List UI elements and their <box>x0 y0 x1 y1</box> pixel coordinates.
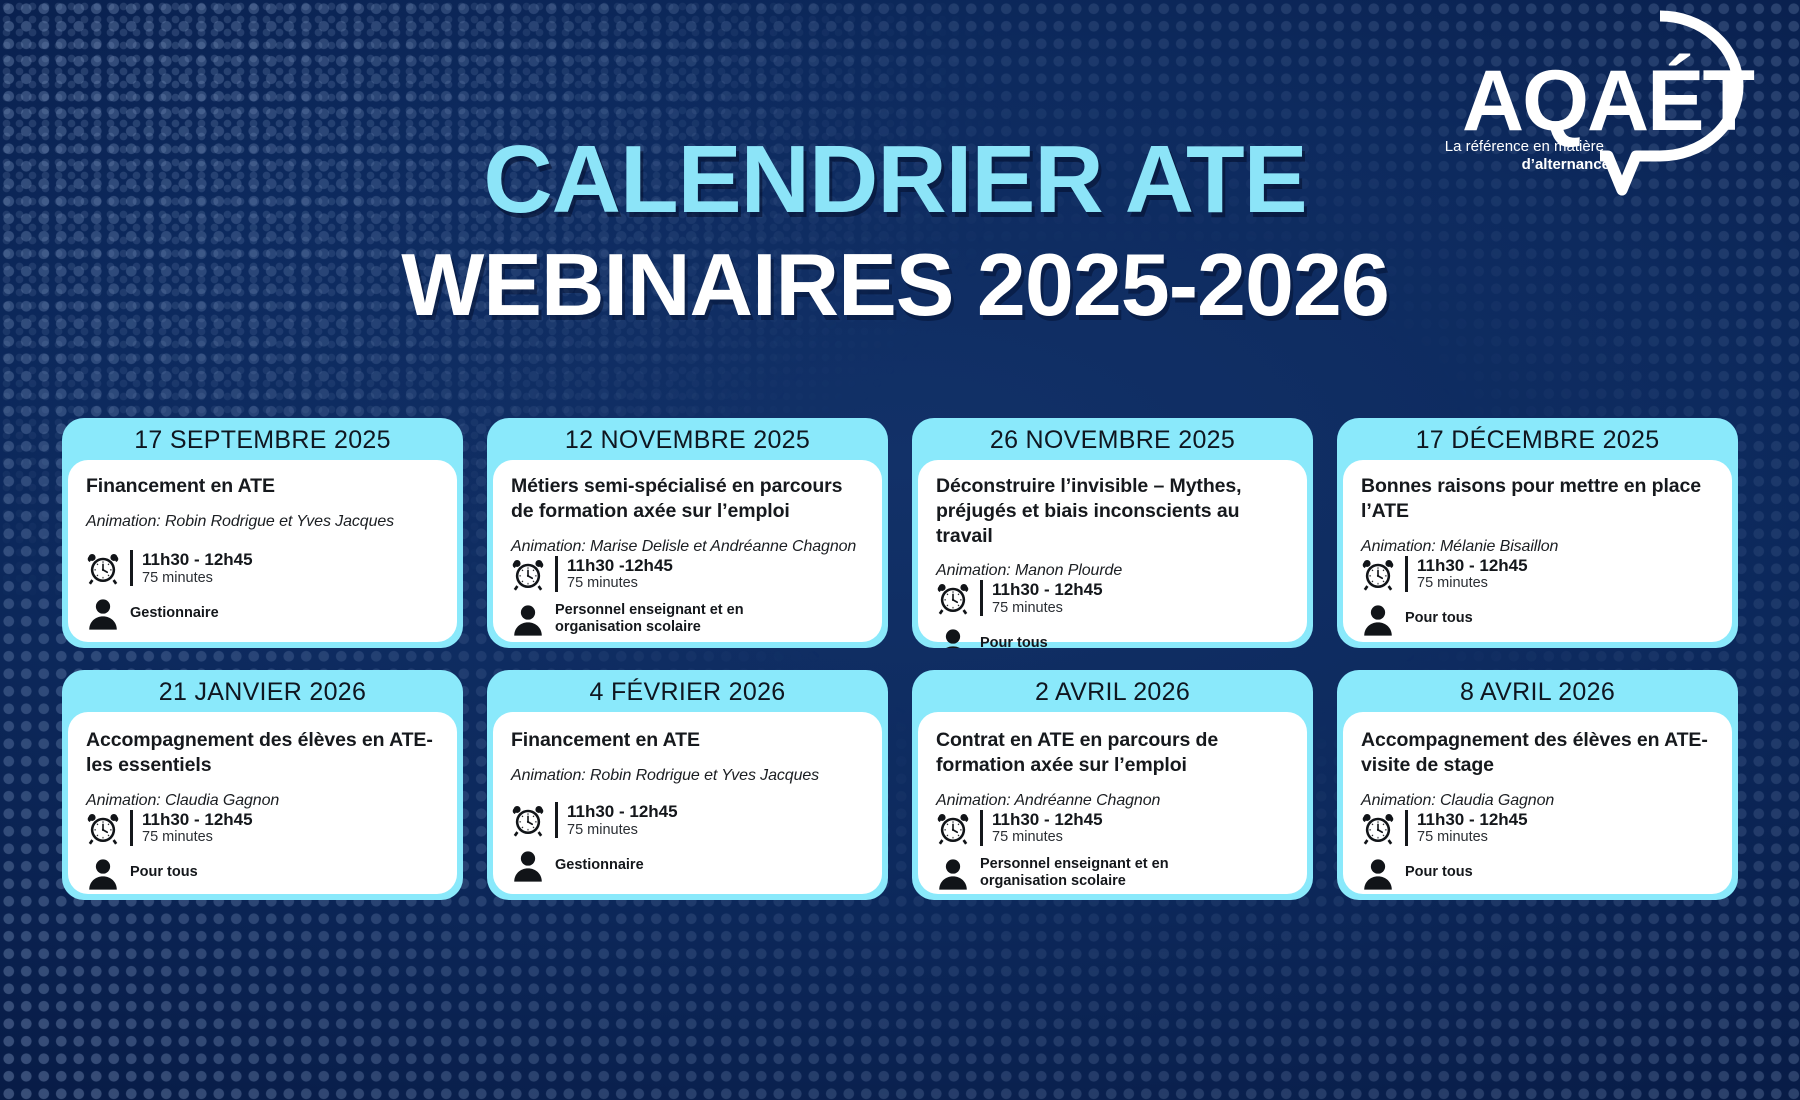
card-audience-row: Pour tous <box>936 626 1289 648</box>
card-body: Financement en ATE Animation: Robin Rodr… <box>493 712 882 894</box>
card-audience-row: Personnel enseignant et en organisation … <box>936 856 1289 890</box>
person-icon <box>936 626 970 648</box>
card-time-row: 11h30 - 12h45 75 minutes <box>1361 556 1714 592</box>
card-title: Accompagnement des élèves en ATE- visite… <box>1361 728 1714 778</box>
person-icon <box>511 848 545 882</box>
card-duration: 75 minutes <box>142 829 253 845</box>
card-animator: Animation: Claudia Gagnon <box>86 792 439 810</box>
card-date: 4 FÉVRIER 2026 <box>487 670 888 714</box>
card-date: 26 NOVEMBRE 2025 <box>912 418 1313 462</box>
page-subtitle: WEBINAIRES 2025-2026 <box>0 236 1790 335</box>
webinar-card-1[interactable]: 17 SEPTEMBRE 2025 Financement en ATE Ani… <box>62 418 463 648</box>
card-time-range: 11h30 - 12h45 <box>567 802 678 821</box>
card-time-text: 11h30 - 12h45 75 minutes <box>1405 556 1528 592</box>
alarm-clock-icon <box>1361 557 1395 591</box>
card-title: Déconstruire l’invisible – Mythes, préju… <box>936 474 1289 548</box>
poster-headings: CALENDRIER ATE WEBINAIRES 2025-2026 <box>0 130 1800 334</box>
card-body: Financement en ATE Animation: Robin Rodr… <box>68 460 457 642</box>
card-date: 2 AVRIL 2026 <box>912 670 1313 714</box>
card-time-text: 11h30 - 12h45 75 minutes <box>555 802 678 838</box>
webinar-card-4[interactable]: 17 DÉCEMBRE 2025 Bonnes raisons pour met… <box>1337 418 1738 648</box>
alarm-clock-icon <box>511 803 545 837</box>
card-animator: Animation: Robin Rodrigue et Yves Jacque… <box>86 513 439 531</box>
card-time-text: 11h30 - 12h45 75 minutes <box>980 810 1103 846</box>
card-time-row: 11h30 - 12h45 75 minutes <box>86 810 439 846</box>
card-body: Accompagnement des élèves en ATE- les es… <box>68 712 457 894</box>
page-title: CALENDRIER ATE <box>0 130 1790 230</box>
card-audience-label: Personnel enseignant et en organisation … <box>980 856 1210 890</box>
card-time-text: 11h30 - 12h45 75 minutes <box>980 580 1103 616</box>
card-audience-label: Pour tous <box>130 864 198 881</box>
card-time-text: 11h30 - 12h45 75 minutes <box>130 550 253 586</box>
webinar-card-2[interactable]: 12 NOVEMBRE 2025 Métiers semi-spécialisé… <box>487 418 888 648</box>
card-body: Bonnes raisons pour mettre en place l’AT… <box>1343 460 1732 642</box>
card-audience-label: Personnel enseignant et en organisation … <box>555 602 785 636</box>
card-duration: 75 minutes <box>567 822 678 838</box>
card-meta: 11h30 - 12h45 75 minutes Pour tous <box>936 580 1289 648</box>
person-icon <box>511 602 545 636</box>
card-time-row: 11h30 - 12h45 75 minutes <box>936 810 1289 846</box>
card-body: Accompagnement des élèves en ATE- visite… <box>1343 712 1732 894</box>
person-icon <box>936 856 970 890</box>
card-time-range: 11h30 - 12h45 <box>1417 810 1528 829</box>
card-meta: 11h30 - 12h45 75 minutes Pour tous <box>1361 556 1714 638</box>
card-body: Contrat en ATE en parcours de formation … <box>918 712 1307 894</box>
card-time-text: 11h30 -12h45 75 minutes <box>555 556 673 592</box>
card-meta: 11h30 -12h45 75 minutes Personnel enseig… <box>511 556 864 638</box>
card-title: Contrat en ATE en parcours de formation … <box>936 728 1289 778</box>
card-audience-label: Pour tous <box>1405 864 1473 881</box>
card-duration: 75 minutes <box>1417 575 1528 591</box>
card-title: Accompagnement des élèves en ATE- les es… <box>86 728 439 778</box>
card-title: Financement en ATE <box>511 728 864 753</box>
card-date: 12 NOVEMBRE 2025 <box>487 418 888 462</box>
card-animator: Animation: Manon Plourde <box>936 562 1289 580</box>
card-time-row: 11h30 -12h45 75 minutes <box>511 556 864 592</box>
person-icon <box>86 856 120 890</box>
card-duration: 75 minutes <box>567 575 673 591</box>
webinar-card-3[interactable]: 26 NOVEMBRE 2025 Déconstruire l’invisibl… <box>912 418 1313 648</box>
card-duration: 75 minutes <box>992 600 1103 616</box>
person-icon <box>86 596 120 630</box>
card-audience-row: Gestionnaire <box>511 848 864 882</box>
webinar-card-8[interactable]: 8 AVRIL 2026 Accompagnement des élèves e… <box>1337 670 1738 900</box>
card-time-range: 11h30 - 12h45 <box>142 810 253 829</box>
card-time-range: 11h30 - 12h45 <box>992 810 1103 829</box>
card-audience-label: Pour tous <box>1405 610 1473 627</box>
card-audience-label: Gestionnaire <box>130 605 219 622</box>
card-duration: 75 minutes <box>992 829 1103 845</box>
card-meta: 11h30 - 12h45 75 minutes Pour tous <box>86 810 439 892</box>
card-animator: Animation: Marise Delisle et Andréanne C… <box>511 538 864 556</box>
card-date: 8 AVRIL 2026 <box>1337 670 1738 714</box>
card-time-text: 11h30 - 12h45 75 minutes <box>130 810 253 846</box>
webinar-card-7[interactable]: 2 AVRIL 2026 Contrat en ATE en parcours … <box>912 670 1313 900</box>
card-body: Métiers semi-spécialisé en parcours de f… <box>493 460 882 642</box>
card-duration: 75 minutes <box>1417 829 1528 845</box>
poster-canvas: AQAÉT La référence en matière d’alternan… <box>0 0 1800 1100</box>
card-title: Métiers semi-spécialisé en parcours de f… <box>511 474 864 524</box>
alarm-clock-icon <box>936 581 970 615</box>
card-title: Financement en ATE <box>86 474 439 499</box>
card-audience-row: Gestionnaire <box>86 596 439 630</box>
alarm-clock-icon <box>511 557 545 591</box>
card-animator: Animation: Claudia Gagnon <box>1361 792 1714 810</box>
card-audience-label: Gestionnaire <box>555 857 644 874</box>
webinar-card-grid: 17 SEPTEMBRE 2025 Financement en ATE Ani… <box>62 418 1738 900</box>
alarm-clock-icon <box>1361 811 1395 845</box>
card-audience-label: Pour tous <box>980 635 1048 648</box>
card-duration: 75 minutes <box>142 570 253 586</box>
card-time-range: 11h30 - 12h45 <box>1417 556 1528 575</box>
card-time-text: 11h30 - 12h45 75 minutes <box>1405 810 1528 846</box>
card-time-row: 11h30 - 12h45 75 minutes <box>936 580 1289 616</box>
person-icon <box>1361 602 1395 636</box>
alarm-clock-icon <box>86 811 120 845</box>
card-audience-row: Pour tous <box>86 856 439 890</box>
card-time-range: 11h30 - 12h45 <box>142 550 253 569</box>
card-time-row: 11h30 - 12h45 75 minutes <box>1361 810 1714 846</box>
card-date: 17 DÉCEMBRE 2025 <box>1337 418 1738 462</box>
card-time-row: 11h30 - 12h45 75 minutes <box>86 550 439 586</box>
card-time-range: 11h30 -12h45 <box>567 556 673 575</box>
person-icon <box>1361 856 1395 890</box>
card-meta: 11h30 - 12h45 75 minutes Pour tous <box>1361 810 1714 892</box>
card-date: 17 SEPTEMBRE 2025 <box>62 418 463 462</box>
card-time-range: 11h30 - 12h45 <box>992 580 1103 599</box>
card-title: Bonnes raisons pour mettre en place l’AT… <box>1361 474 1714 524</box>
card-meta: 11h30 - 12h45 75 minutes Personnel ensei… <box>936 810 1289 892</box>
alarm-clock-icon <box>86 551 120 585</box>
card-animator: Animation: Andréanne Chagnon <box>936 792 1289 810</box>
card-meta: 11h30 - 12h45 75 minutes Gestionnaire <box>86 550 439 632</box>
card-body: Déconstruire l’invisible – Mythes, préju… <box>918 460 1307 642</box>
alarm-clock-icon <box>936 811 970 845</box>
card-audience-row: Personnel enseignant et en organisation … <box>511 602 864 636</box>
card-audience-row: Pour tous <box>1361 856 1714 890</box>
card-date: 21 JANVIER 2026 <box>62 670 463 714</box>
card-animator: Animation: Mélanie Bisaillon <box>1361 538 1714 556</box>
card-time-row: 11h30 - 12h45 75 minutes <box>511 802 864 838</box>
card-animator: Animation: Robin Rodrigue et Yves Jacque… <box>511 767 864 785</box>
webinar-card-5[interactable]: 21 JANVIER 2026 Accompagnement des élève… <box>62 670 463 900</box>
webinar-card-6[interactable]: 4 FÉVRIER 2026 Financement en ATE Animat… <box>487 670 888 900</box>
card-meta: 11h30 - 12h45 75 minutes Gestionnaire <box>511 802 864 884</box>
card-audience-row: Pour tous <box>1361 602 1714 636</box>
